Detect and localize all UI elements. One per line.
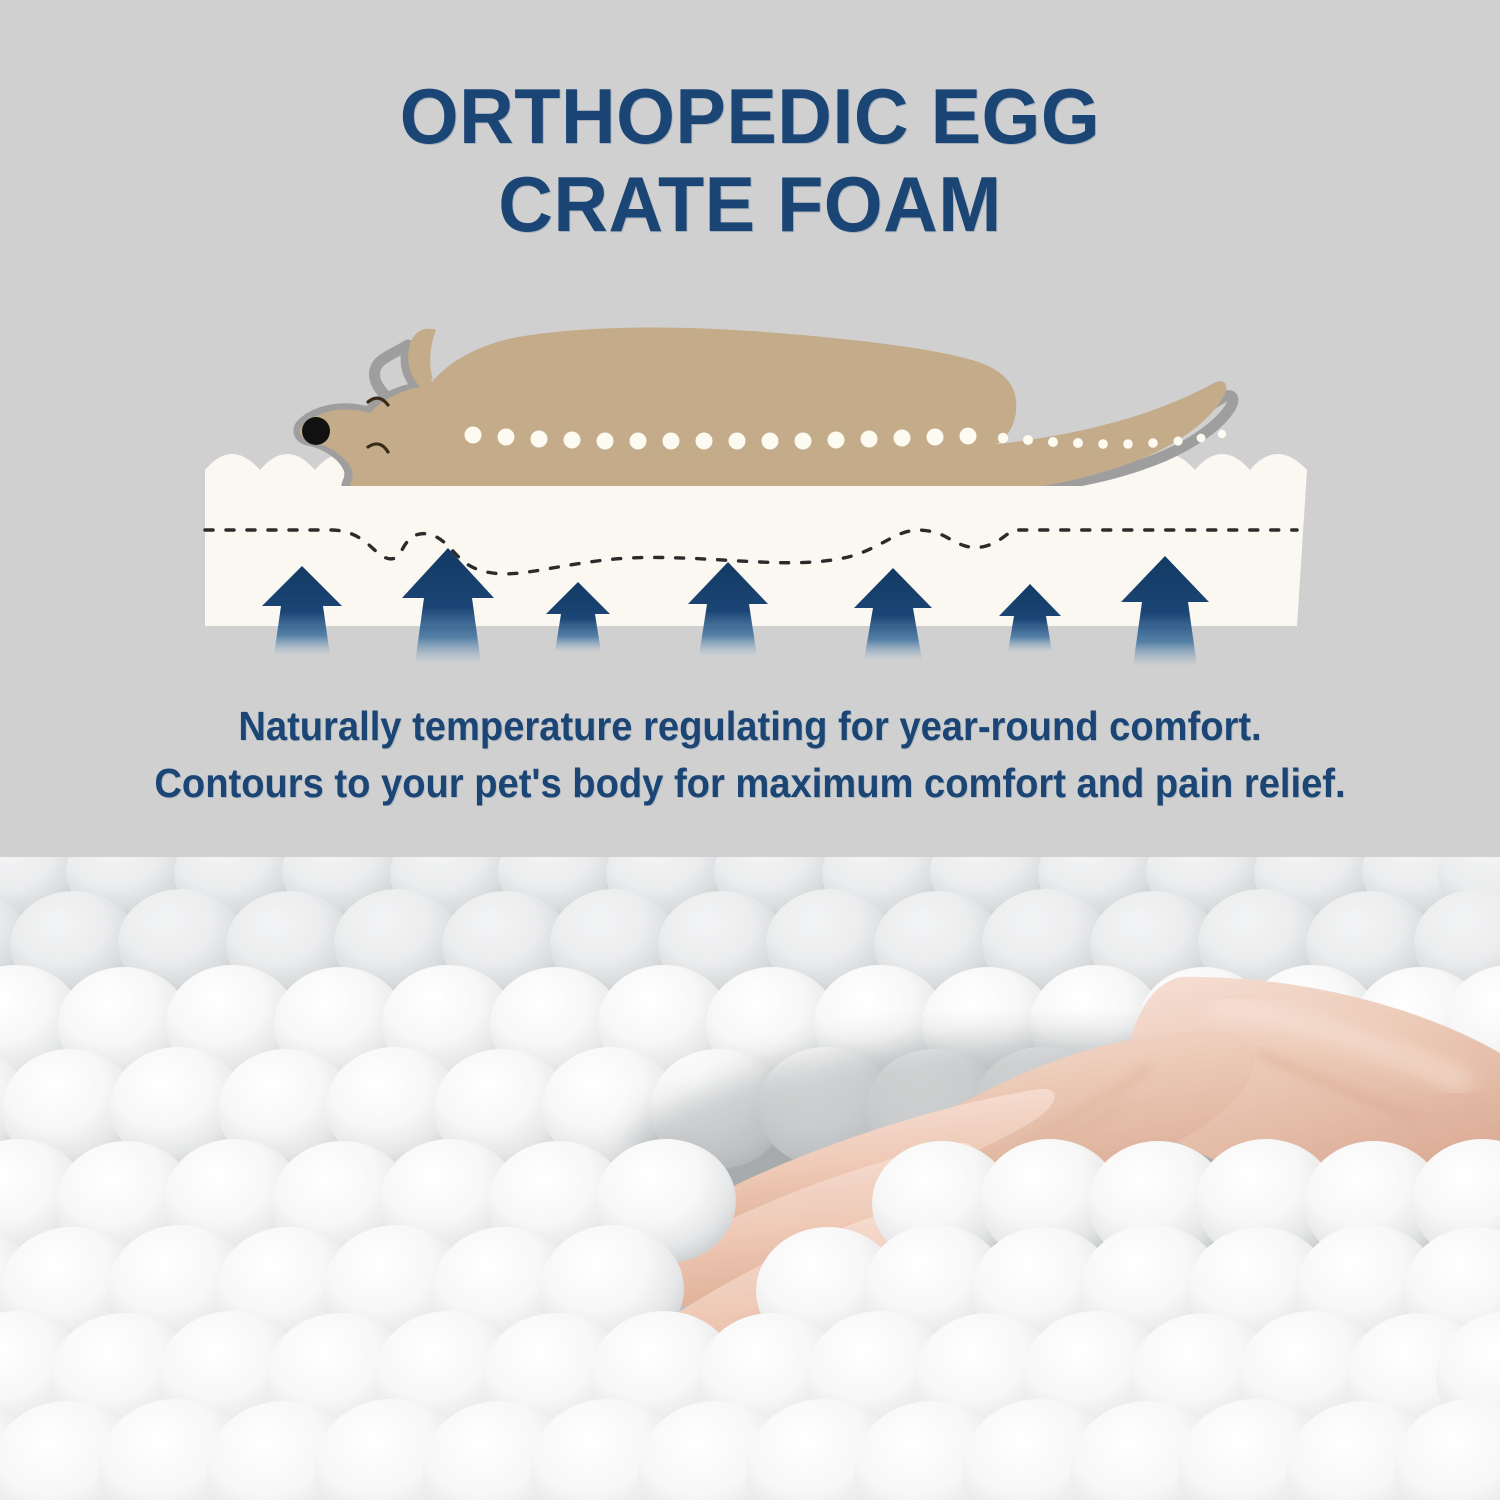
caption-block: Naturally temperature regulating for yea…	[53, 698, 1448, 812]
dog-nose-icon	[302, 417, 330, 445]
caption-line-1: Naturally temperature regulating for yea…	[53, 698, 1448, 755]
product-infographic: ORTHOPEDIC EGG CRATE FOAM	[0, 0, 1500, 1500]
page-title: ORTHOPEDIC EGG CRATE FOAM	[23, 72, 1478, 248]
foam-front-face	[205, 486, 1297, 626]
diagram-svg	[0, 300, 1500, 700]
product-photo	[0, 857, 1500, 1500]
egg-crate-foam-photo	[0, 857, 1500, 1500]
foam-cross-section-diagram	[0, 300, 1500, 700]
caption-line-2: Contours to your pet's body for maximum …	[53, 755, 1448, 812]
top-info-panel: ORTHOPEDIC EGG CRATE FOAM	[0, 0, 1500, 857]
